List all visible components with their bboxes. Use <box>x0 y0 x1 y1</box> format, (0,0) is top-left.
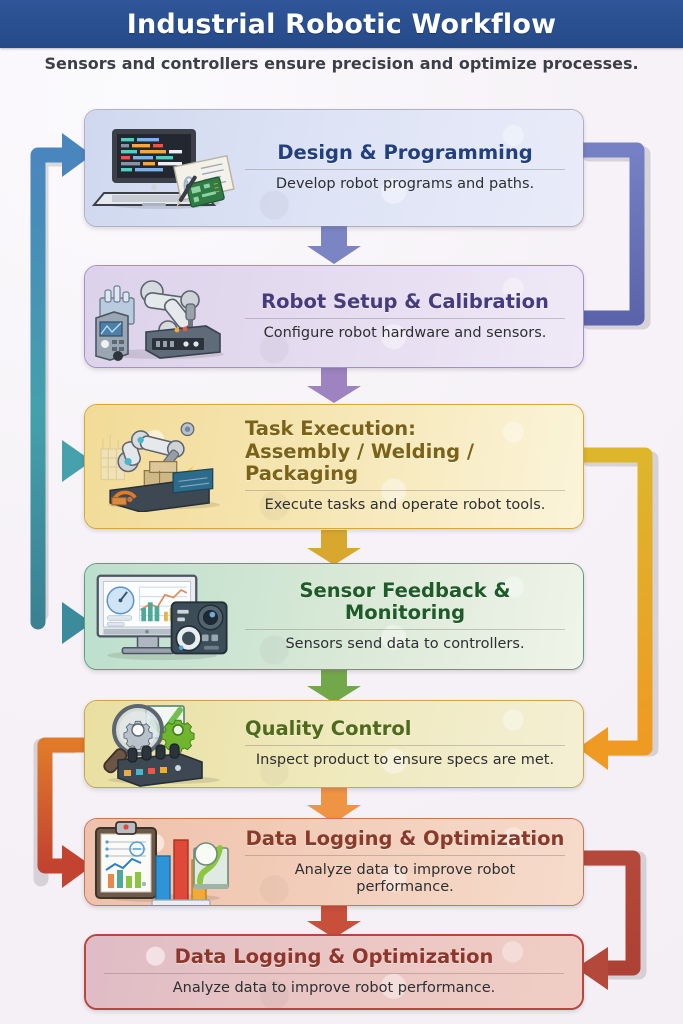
laptop-code-circuitboard-icon <box>85 110 245 226</box>
arrow-setup-to-task <box>307 368 361 403</box>
card-title: Task Execution: Assembly / Welding / Pac… <box>245 418 565 485</box>
step-card-task-execution[interactable]: Task Execution: Assembly / Welding / Pac… <box>84 404 584 529</box>
card-title: Robot Setup & Calibration <box>245 291 565 313</box>
feedback-right-gold <box>580 455 645 748</box>
card-description: Develop robot programs and paths. <box>245 176 565 193</box>
title-divider <box>245 318 565 319</box>
card-description: Execute tasks and operate robot tools. <box>245 497 565 514</box>
card-description: Sensors send data to controllers. <box>245 636 565 653</box>
feedback-right-indigo <box>580 150 637 318</box>
arrow-design-to-setup <box>307 226 361 264</box>
card-description: Configure robot hardware and sensors. <box>245 325 565 342</box>
title-divider <box>245 855 565 856</box>
title-divider <box>245 745 565 746</box>
card-title: Data Logging & Optimization <box>104 946 564 968</box>
card-title: Quality Control <box>245 718 565 740</box>
magnifier-checkmark-gear-icon <box>85 701 245 787</box>
title-divider <box>245 490 565 491</box>
card-title: Sensor Feedback & Monitoring <box>245 580 565 624</box>
monitor-dashboard-sensor-icon <box>85 564 245 669</box>
title-divider <box>245 169 565 170</box>
arrow-task-to-sensor <box>307 530 361 565</box>
step-card-data-logging-optimization-final[interactable]: Data Logging & Optimization Analyze data… <box>84 934 584 1010</box>
arrow-sensor-to-quality <box>307 668 361 703</box>
feedback-left-blue <box>38 155 66 622</box>
robot-arm-welding-boxes-icon <box>85 405 245 528</box>
title-divider <box>104 973 564 974</box>
card-description: Analyze data to improve robot performanc… <box>104 980 564 997</box>
step-card-robot-setup-calibration[interactable]: Robot Setup & Calibration Configure robo… <box>84 265 584 368</box>
card-title: Design & Programming <box>245 142 565 164</box>
card-title: Data Logging & Optimization <box>245 828 565 850</box>
title-divider <box>245 629 565 630</box>
robot-arm-controller-icon <box>85 266 245 367</box>
clipboard-barchart-icon <box>85 819 245 905</box>
step-card-design-programming[interactable]: Design & Programming Develop robot progr… <box>84 109 584 227</box>
step-card-sensor-feedback-monitoring[interactable]: Sensor Feedback & Monitoring Sensors sen… <box>84 563 584 670</box>
card-description: Inspect product to ensure specs are met. <box>245 752 565 769</box>
infographic-poster: Industrial Robotic Workflow Sensors and … <box>0 0 683 1024</box>
step-card-quality-control[interactable]: Quality Control Inspect product to ensur… <box>84 700 584 788</box>
card-description: Analyze data to improve robot performanc… <box>245 862 565 897</box>
step-card-data-logging-optimization[interactable]: Data Logging & Optimization Analyze data… <box>84 818 584 906</box>
